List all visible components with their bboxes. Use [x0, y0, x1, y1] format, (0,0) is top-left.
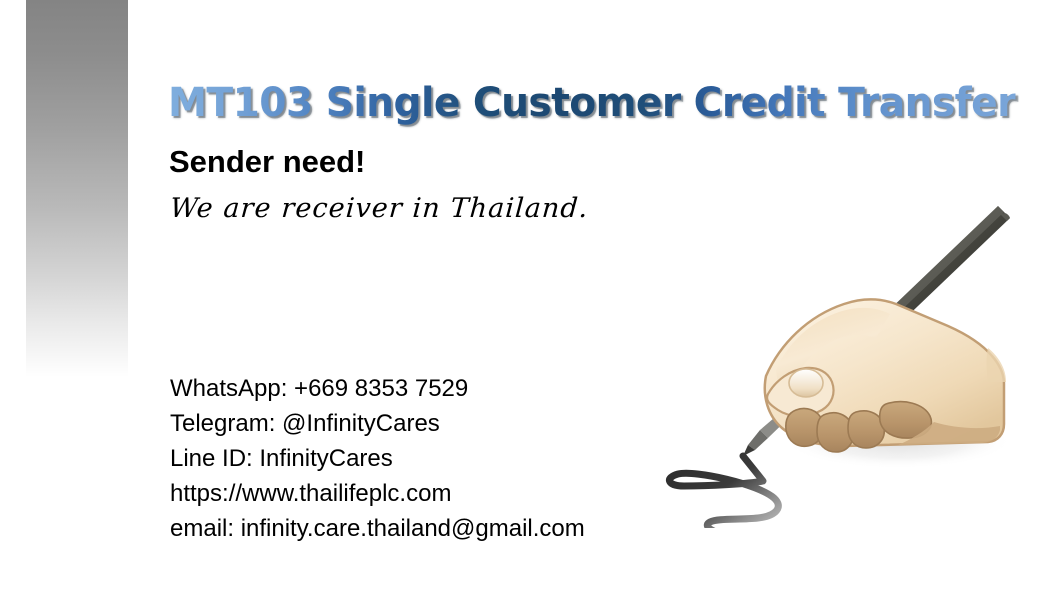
- contact-line-telegram: Telegram: @InfinityCares: [170, 406, 585, 441]
- contact-line-email[interactable]: email: infinity.care.thailand@gmail.com: [170, 511, 585, 546]
- page-title: MT103 Single Customer Credit Transfer: [168, 77, 1016, 129]
- headline-text: Sender need!: [169, 143, 365, 181]
- contact-line-whatsapp: WhatsApp: +669 8353 7529: [170, 371, 585, 406]
- contact-info-block: WhatsApp: +669 8353 7529 Telegram: @Infi…: [170, 371, 585, 546]
- hand-writing-with-pen-icon: [648, 198, 1048, 528]
- contact-line-lineid: Line ID: InfinityCares: [170, 441, 585, 476]
- slide-canvas: MT103 Single Customer Credit Transfer MT…: [0, 0, 1063, 600]
- grip-pad: [789, 369, 823, 397]
- contact-line-website[interactable]: https://www.thailifeplc.com: [170, 476, 585, 511]
- left-gradient-bar: [26, 0, 128, 460]
- subtitle-script-text: We are receiver in Thailand.: [169, 190, 590, 228]
- wrist-notch: [987, 348, 1007, 382]
- ink-signature-stroke: [669, 456, 778, 528]
